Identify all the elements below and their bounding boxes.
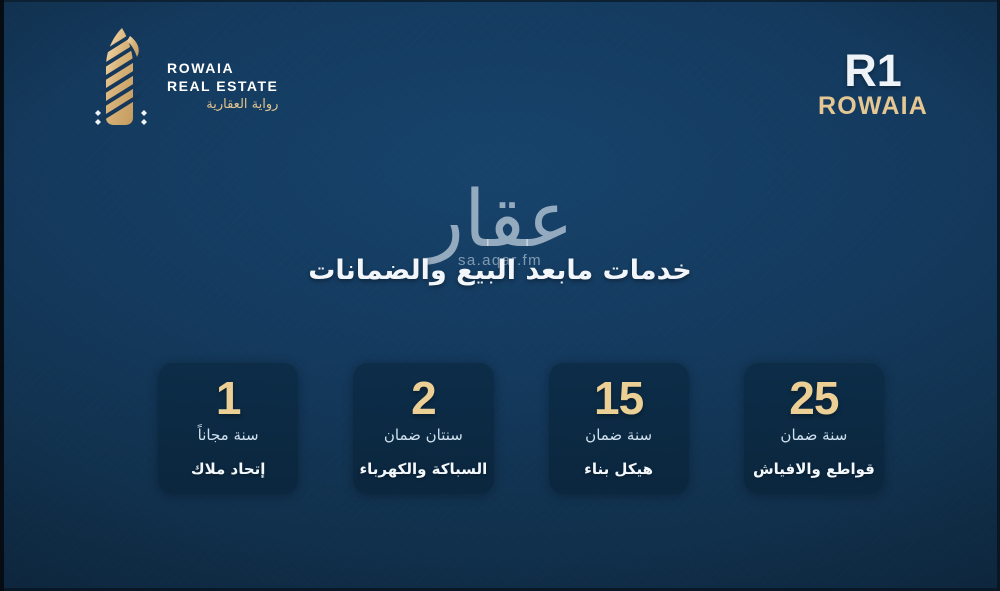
warranty-card: 15 سنة ضمان هيكل بناء bbox=[549, 362, 689, 494]
warranty-card: 2 سنتان ضمان السباكة والكهرباء bbox=[353, 362, 493, 494]
warranty-term-label: سنة ضمان bbox=[585, 426, 652, 444]
rowaia-calligraphy-emblem-icon bbox=[92, 26, 154, 130]
warranty-card: 1 سنة مجاناً إتحاد ملاك bbox=[158, 362, 298, 494]
warranty-years-number: 1 bbox=[216, 374, 241, 422]
warranty-scope-label: إتحاد ملاك bbox=[191, 460, 266, 478]
slide-canvas: ROWAIA REAL ESTATE رواية العقارية R1 ROW… bbox=[0, 0, 1000, 591]
warranty-years-number: 25 bbox=[789, 374, 838, 422]
warranty-card-list: 1 سنة مجاناً إتحاد ملاك 2 سنتان ضمان الس… bbox=[158, 362, 884, 494]
brand-lockup-right: R1 ROWAIA bbox=[818, 48, 928, 119]
warranty-term-label: سنتان ضمان bbox=[384, 426, 463, 444]
warranty-years-number: 2 bbox=[411, 374, 436, 422]
warranty-scope-label: هيكل بناء bbox=[584, 460, 653, 478]
warranty-scope-label: قواطع والافياش bbox=[753, 460, 875, 478]
brand-name-arabic: رواية العقارية bbox=[167, 96, 278, 113]
project-name: ROWAIA bbox=[818, 94, 928, 119]
warranty-card: 25 سنة ضمان قواطع والافياش bbox=[744, 362, 884, 494]
brand-lockup-left: ROWAIA REAL ESTATE رواية العقارية bbox=[92, 26, 278, 130]
brand-text-block: ROWAIA REAL ESTATE رواية العقارية bbox=[167, 43, 278, 113]
project-code: R1 bbox=[818, 48, 928, 93]
warranty-scope-label: السباكة والكهرباء bbox=[359, 460, 487, 478]
page-title: خدمات مابعد البيع والضمانات bbox=[0, 255, 1000, 286]
warranty-years-number: 15 bbox=[594, 374, 643, 422]
warranty-term-label: سنة ضمان bbox=[780, 426, 847, 444]
brand-name-line1: ROWAIA bbox=[167, 61, 278, 76]
brand-name-line2: REAL ESTATE bbox=[167, 78, 278, 94]
warranty-term-label: سنة مجاناً bbox=[198, 426, 259, 444]
